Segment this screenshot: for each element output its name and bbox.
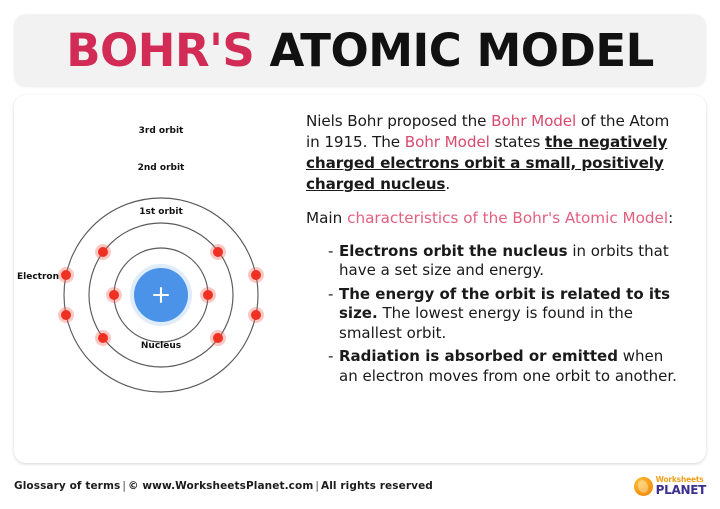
bullet-dash: -: [328, 285, 333, 305]
electron: [251, 310, 261, 320]
lead-t2: :: [668, 209, 673, 227]
content-card: 3rd orbit 2nd orbit 1st orbit Nucleus El…: [14, 95, 706, 463]
intro-highlight-1: Bohr Model: [491, 112, 576, 130]
intro-t3: states: [490, 133, 545, 151]
footer-credits: Glossary of terms|© www.WorksheetsPlanet…: [14, 480, 433, 492]
electron: [98, 247, 108, 257]
worksheets-planet-logo[interactable]: Worksheets PLANET: [634, 476, 706, 497]
logo-top-text: Worksheets: [656, 476, 706, 484]
logo-wordmark: Worksheets PLANET: [656, 476, 706, 497]
label-orbit-3: 3rd orbit: [139, 126, 184, 136]
footer-site-link[interactable]: www.WorksheetsPlanet.com: [142, 480, 313, 492]
list-item: -Radiation is absorbed or emitted when a…: [328, 347, 684, 386]
label-electron: Electron: [17, 272, 59, 282]
lead-t1: Main: [306, 209, 347, 227]
electron: [61, 270, 71, 280]
electron: [61, 310, 71, 320]
intro-t4: .: [445, 175, 450, 193]
electron: [109, 290, 119, 300]
characteristics-list: -Electrons orbit the nucleus in orbits t…: [306, 242, 684, 387]
footer-separator-1: |: [120, 480, 128, 492]
lead-highlight: characteristics of the Bohr's Atomic Mod…: [347, 209, 668, 227]
title-main-text: ATOMIC MODEL: [254, 24, 653, 77]
page-title: BOHR'S ATOMIC MODEL: [66, 28, 654, 73]
bullet-dash: -: [328, 242, 333, 262]
electron: [213, 333, 223, 343]
label-orbit-1: 1st orbit: [139, 207, 183, 217]
copyright-icon: ©: [128, 480, 139, 492]
intro-paragraph: Niels Bohr proposed the Bohr Model of th…: [306, 111, 684, 195]
bullet-bold-text: Electrons orbit the nucleus: [339, 242, 568, 260]
intro-t1: Niels Bohr proposed the: [306, 112, 491, 130]
bullet-dash: -: [328, 347, 333, 367]
intro-highlight-2: Bohr Model: [405, 133, 490, 151]
list-item: -The energy of the orbit is related to i…: [328, 285, 684, 344]
atom-diagram: 3rd orbit 2nd orbit 1st orbit Nucleus El…: [14, 95, 298, 463]
title-accent-text: BOHR'S: [66, 24, 254, 77]
logo-bottom-text: PLANET: [656, 484, 706, 496]
label-nucleus: Nucleus: [141, 341, 181, 351]
electron: [251, 270, 261, 280]
electron: [213, 247, 223, 257]
bullet-bold-text: Radiation is absorbed or emitted: [339, 347, 618, 365]
label-orbit-2: 2nd orbit: [138, 163, 185, 173]
footer-glossary: Glossary of terms: [14, 480, 120, 492]
footer-rights: All rights reserved: [321, 480, 433, 492]
list-item: -Electrons orbit the nucleus in orbits t…: [328, 242, 684, 281]
atom-diagram-svg: 3rd orbit 2nd orbit 1st orbit Nucleus El…: [14, 95, 298, 463]
lead-paragraph: Main characteristics of the Bohr's Atomi…: [306, 208, 684, 229]
bullet-rest-text: The lowest energy is found in the smalle…: [339, 304, 633, 342]
electron: [203, 290, 213, 300]
footer: Glossary of terms|© www.WorksheetsPlanet…: [14, 471, 706, 501]
planet-icon: [634, 477, 653, 496]
title-card: BOHR'S ATOMIC MODEL: [14, 14, 706, 86]
text-column: Niels Bohr proposed the Bohr Model of th…: [298, 95, 706, 463]
poster: BOHR'S ATOMIC MODEL: [0, 0, 720, 509]
footer-separator-2: |: [313, 480, 321, 492]
electron: [98, 333, 108, 343]
